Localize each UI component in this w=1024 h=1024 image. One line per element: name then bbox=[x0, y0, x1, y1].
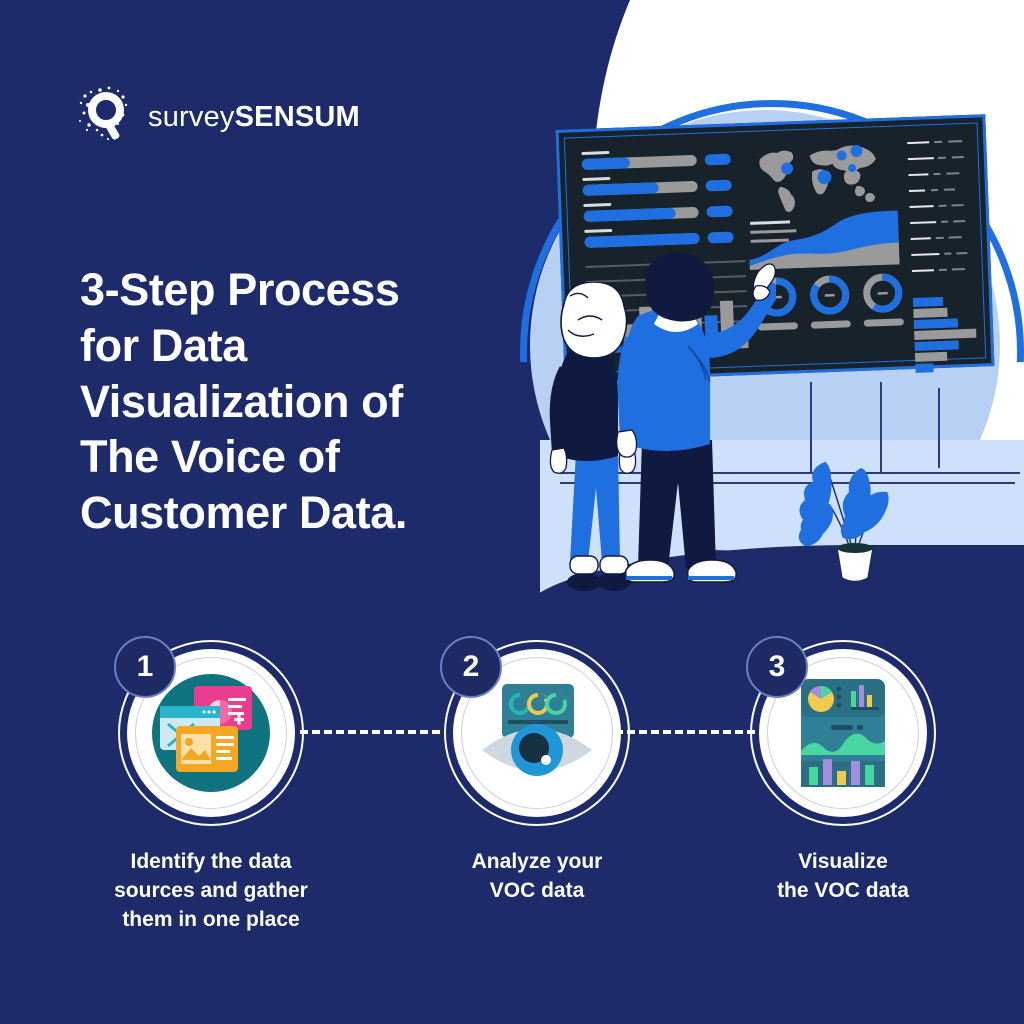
headline-line-1: 3-Step Process bbox=[80, 262, 520, 318]
progress-fill-1 bbox=[582, 157, 631, 170]
step-2-circle[interactable]: 2 bbox=[444, 640, 630, 826]
step-3-caption: Visualize the VOC data bbox=[718, 848, 968, 906]
progress-pill-2 bbox=[705, 180, 731, 192]
gauge-3 bbox=[860, 270, 906, 321]
step-1-caption: Identify the data sources and gather the… bbox=[86, 848, 336, 935]
infographic-canvas: surveySENSUM 3-Step Process for Data Vis… bbox=[0, 0, 1024, 1024]
step-3-caption-line-1: Visualize bbox=[718, 848, 968, 877]
card-orange bbox=[176, 726, 238, 772]
step-2-caption: Analyze your VOC data bbox=[412, 848, 662, 906]
brand-logo-text: surveySENSUM bbox=[148, 101, 360, 134]
brand-logo: surveySENSUM bbox=[78, 86, 360, 148]
progress-pill-4 bbox=[707, 232, 733, 244]
potted-plant-icon bbox=[795, 382, 915, 582]
headline-line-3: Visualization of bbox=[80, 374, 520, 430]
brand-logo-text-light: survey bbox=[148, 101, 235, 133]
person-blue-jacket-pointing bbox=[616, 250, 776, 615]
brand-logo-text-bold: SENSUM bbox=[235, 101, 360, 133]
world-map-icon bbox=[751, 139, 884, 216]
step-2[interactable]: 2 Analyze your VOC data bbox=[412, 640, 662, 906]
hero-illustration bbox=[500, 60, 1024, 620]
step-1-caption-line-1: Identify the data bbox=[86, 848, 336, 877]
step-3-caption-line-2: the VOC data bbox=[718, 877, 968, 906]
progress-pill-1 bbox=[705, 154, 731, 166]
gauge-3-label bbox=[864, 318, 904, 326]
headline-line-4: The Voice of bbox=[80, 429, 520, 485]
step-2-caption-line-1: Analyze your bbox=[412, 848, 662, 877]
step-1-caption-line-3: them in one place bbox=[86, 906, 336, 935]
step-3-badge: 3 bbox=[746, 636, 808, 698]
step-3[interactable]: 3 Visualize the VOC data bbox=[718, 640, 968, 906]
step-1-caption-line-2: sources and gather bbox=[86, 877, 336, 906]
gauge-2 bbox=[807, 272, 853, 323]
steps-section: 1 Identify the data sources and gather t… bbox=[0, 640, 1024, 940]
step-1[interactable]: 1 Identify the data sources and gather t… bbox=[86, 640, 336, 935]
step-1-badge: 1 bbox=[114, 636, 176, 698]
screen-side-list bbox=[907, 136, 980, 288]
progress-pill-3 bbox=[706, 206, 732, 218]
headline-line-2: for Data bbox=[80, 318, 520, 374]
magnifier-dots-icon bbox=[78, 86, 136, 148]
gauge-2-label bbox=[811, 320, 851, 328]
headline-line-5: Customer Data. bbox=[80, 485, 520, 541]
step-2-badge: 2 bbox=[440, 636, 502, 698]
page-title: 3-Step Process for Data Visualization of… bbox=[80, 262, 520, 541]
step-3-circle[interactable]: 3 bbox=[750, 640, 936, 826]
step-1-circle[interactable]: 1 bbox=[118, 640, 304, 826]
step-2-caption-line-2: VOC data bbox=[412, 877, 662, 906]
screen-side-bars bbox=[913, 295, 985, 366]
